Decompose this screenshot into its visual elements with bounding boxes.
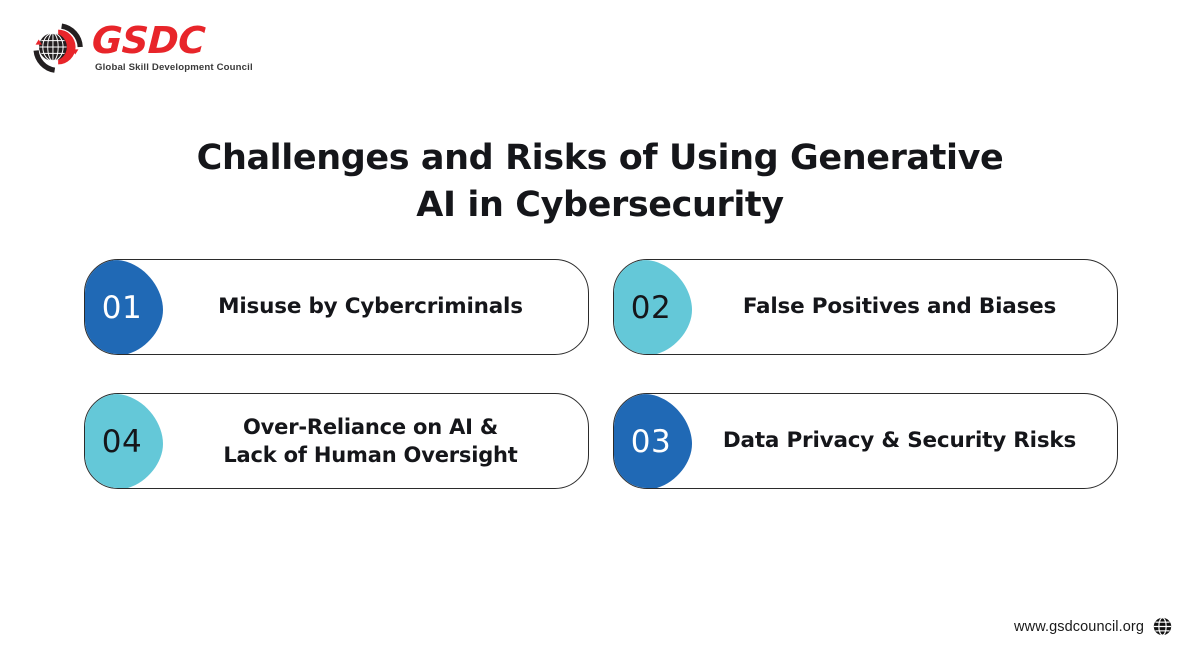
card-item[interactable]: 03 Data Privacy & Security Risks: [613, 393, 1118, 489]
card-number: 03: [631, 427, 675, 458]
card-number: 02: [631, 293, 675, 324]
globe-icon: [1153, 617, 1172, 636]
brand-wordmark: GSDC: [91, 22, 254, 59]
cards-grid: 01 Misuse by Cybercriminals 02 False Pos…: [84, 259, 1118, 489]
card-item[interactable]: 02 False Positives and Biases: [613, 259, 1118, 355]
footer: www.gsdcouncil.org: [1014, 617, 1172, 636]
card-number-badge: 04: [85, 394, 163, 489]
card-item[interactable]: 04 Over-Reliance on AI & Lack of Human O…: [84, 393, 589, 489]
page-title: Challenges and Risks of Using Generative…: [0, 135, 1200, 228]
card-number: 01: [102, 293, 146, 324]
card-number: 04: [102, 427, 146, 458]
card-number-badge: 02: [614, 260, 692, 355]
brand-logo: GSDC Global Skill Development Council: [28, 18, 253, 76]
card-number-badge: 01: [85, 260, 163, 355]
brand-tagline: Global Skill Development Council: [95, 63, 253, 73]
footer-website-url[interactable]: www.gsdcouncil.org: [1014, 619, 1144, 635]
globe-logo-icon: [28, 18, 86, 76]
card-number-badge: 03: [614, 394, 692, 489]
brand-text: GSDC Global Skill Development Council: [92, 22, 253, 73]
card-item[interactable]: 01 Misuse by Cybercriminals: [84, 259, 589, 355]
